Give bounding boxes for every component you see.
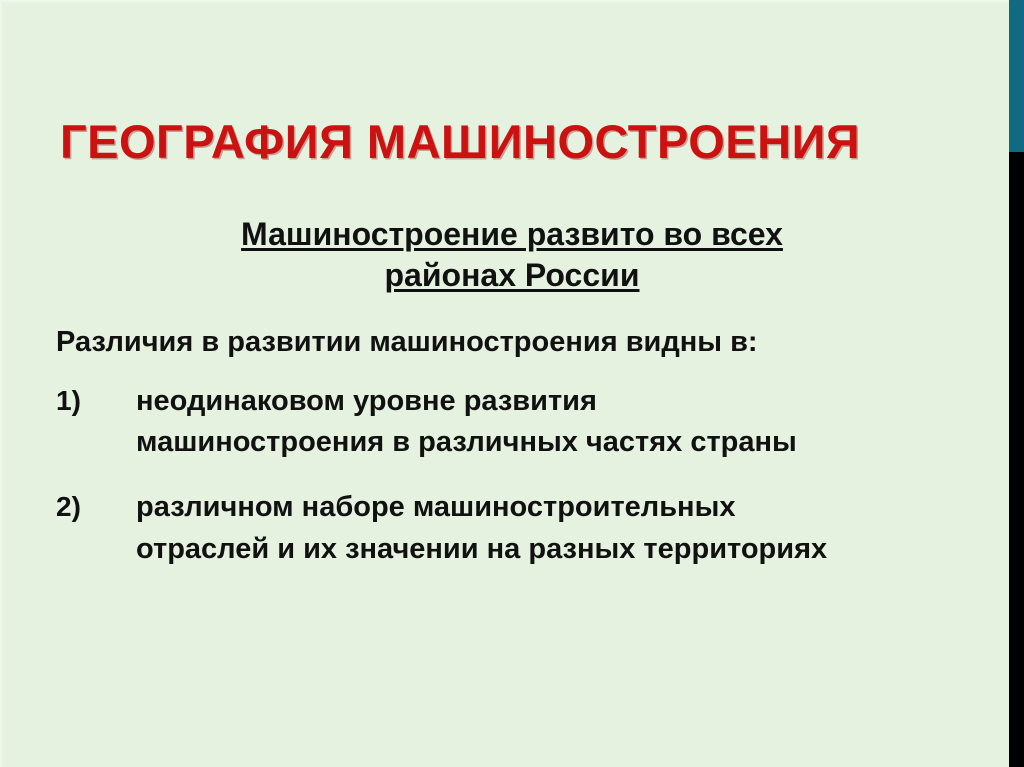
list-item-text-line-2: отраслей и их значении на разных террито… [136,529,981,570]
list-item: 1) неодинаковом уровне развития машиност… [56,381,981,463]
list-item-marker: 1) [56,381,136,421]
sidebar-accent-top-bar [1009,0,1024,152]
presentation-slide: ГЕОГРАФИЯ МАШИНОСТРОЕНИЯ Машиностроение … [0,0,1024,767]
list-item-text-line-1: различном наборе машиностроительных [136,487,981,528]
list-item-text-line-1: неодинаковом уровне развития [136,381,981,422]
slide-decorative-sidebar [1009,0,1024,767]
subtitle-line-1: Машиностроение развито во всех [241,216,783,252]
subtitle-line-2: районах России [385,257,640,293]
page-title: ГЕОГРАФИЯ МАШИНОСТРОЕНИЯ [60,116,960,168]
list-item-text: неодинаковом уровне развития машинострое… [136,381,981,463]
slide-content-area: ГЕОГРАФИЯ МАШИНОСТРОЕНИЯ Машиностроение … [0,0,1009,767]
intro-text: Различия в развитии машиностроения видны… [56,325,976,360]
list-item-marker: 2) [56,487,136,527]
numbered-list: 1) неодинаковом уровне развития машиност… [56,381,981,570]
slide-subtitle: Машиностроение развито во всех районах Р… [52,214,972,296]
list-item: 2) различном наборе машиностроительных о… [56,487,981,569]
sidebar-accent-bottom-bar [1009,152,1024,767]
list-item-text: различном наборе машиностроительных отра… [136,487,981,569]
list-item-text-line-2: машиностроения в различных частях страны [136,422,981,463]
